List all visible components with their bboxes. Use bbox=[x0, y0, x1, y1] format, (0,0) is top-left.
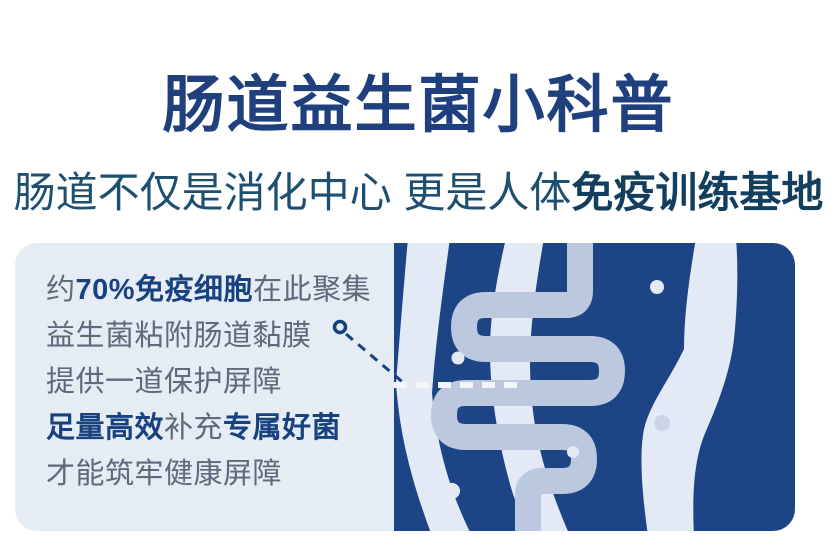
probiotic-dot bbox=[650, 280, 664, 294]
probiotic-dot bbox=[452, 352, 465, 365]
line-1-seg-3: 在此聚集 bbox=[253, 274, 371, 306]
line-5-seg-1: 才能筑牢健康屏障 bbox=[46, 458, 282, 490]
card-text-block: 约70%免疫细胞在此聚集 益生菌粘附肠道黏膜 提供一道保护屏障 足量高效补充专属… bbox=[46, 267, 396, 497]
subtitle-bold-text: 免疫训练基地 bbox=[571, 169, 823, 216]
probiotic-dot bbox=[444, 483, 460, 499]
line-4-seg-1: 足量高效 bbox=[46, 412, 164, 444]
line-1-seg-2: 70%免疫细胞 bbox=[76, 274, 254, 306]
info-card: 约70%免疫细胞在此聚集 益生菌粘附肠道黏膜 提供一道保护屏障 足量高效补充专属… bbox=[15, 243, 795, 531]
card-line-5: 才能筑牢健康屏障 bbox=[46, 451, 396, 497]
probiotic-dot bbox=[567, 446, 579, 458]
line-4-seg-2: 补充 bbox=[164, 412, 223, 444]
card-line-1: 约70%免疫细胞在此聚集 bbox=[46, 267, 396, 313]
line-4-seg-3: 专属好菌 bbox=[223, 412, 341, 444]
line-3-seg-1: 提供一道保护屏障 bbox=[46, 366, 282, 398]
card-line-3: 提供一道保护屏障 bbox=[46, 359, 396, 405]
subtitle-light-text: 肠道不仅是消化中心 更是人体 bbox=[14, 169, 572, 216]
page-subtitle: 肠道不仅是消化中心 更是人体免疫训练基地 bbox=[0, 168, 837, 218]
probiotic-dot bbox=[654, 415, 670, 431]
header: 肠道益生菌小科普 肠道不仅是消化中心 更是人体免疫训练基地 bbox=[0, 0, 837, 236]
page-title: 肠道益生菌小科普 bbox=[0, 72, 837, 140]
card-line-4: 足量高效补充专属好菌 bbox=[46, 405, 396, 451]
line-1-seg-1: 约 bbox=[46, 274, 76, 306]
card-line-2: 益生菌粘附肠道黏膜 bbox=[46, 313, 396, 359]
line-2-seg-1: 益生菌粘附肠道黏膜 bbox=[46, 320, 312, 352]
illustration-panel bbox=[394, 243, 795, 531]
